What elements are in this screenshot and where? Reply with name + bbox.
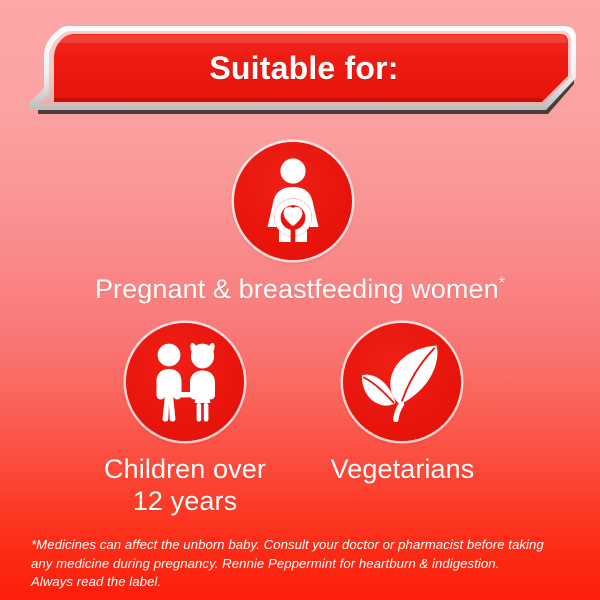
badge-children-over-12 <box>126 323 244 441</box>
footnote-disclaimer: *Medicines can affect the unborn baby. C… <box>31 536 547 592</box>
header-banner: Suitable for: <box>0 22 600 114</box>
footnote-line-3: Always read the label. <box>31 573 547 592</box>
pregnant-woman-icon <box>255 158 331 244</box>
boy-body <box>157 369 182 422</box>
caption-children-over-12: Children over 12 years <box>48 454 322 518</box>
caption-vegetarians: Vegetarians <box>300 454 505 486</box>
girl-dress <box>190 371 215 404</box>
joined-hands <box>179 392 193 397</box>
caption-children-line1: Children over <box>48 454 322 486</box>
boy-head <box>158 344 181 367</box>
badge-vegetarians <box>343 323 461 441</box>
girl-head <box>191 344 214 369</box>
footnote-line-2: any medicine during pregnancy. Rennie Pe… <box>31 555 547 574</box>
caption-pregnant-text: Pregnant & breastfeeding women <box>95 274 499 304</box>
girl-right-leg <box>204 403 209 422</box>
caption-children-line2: 12 years <box>48 486 322 518</box>
footnote-line-1: *Medicines can affect the unborn baby. C… <box>31 536 547 555</box>
footnote-marker: * <box>499 275 505 292</box>
leaf-stem <box>396 404 402 420</box>
girl-left-leg <box>197 403 202 422</box>
two-children-icon <box>142 342 228 422</box>
badge-pregnant-breastfeeding <box>234 142 352 260</box>
caption-pregnant-breastfeeding: Pregnant & breastfeeding women* <box>0 274 600 306</box>
page-title: Suitable for: <box>0 22 600 114</box>
suitable-for-promo-card: Suitable for: Pregnant & breastfeeding w… <box>0 0 600 600</box>
two-leaves-icon <box>360 342 444 422</box>
